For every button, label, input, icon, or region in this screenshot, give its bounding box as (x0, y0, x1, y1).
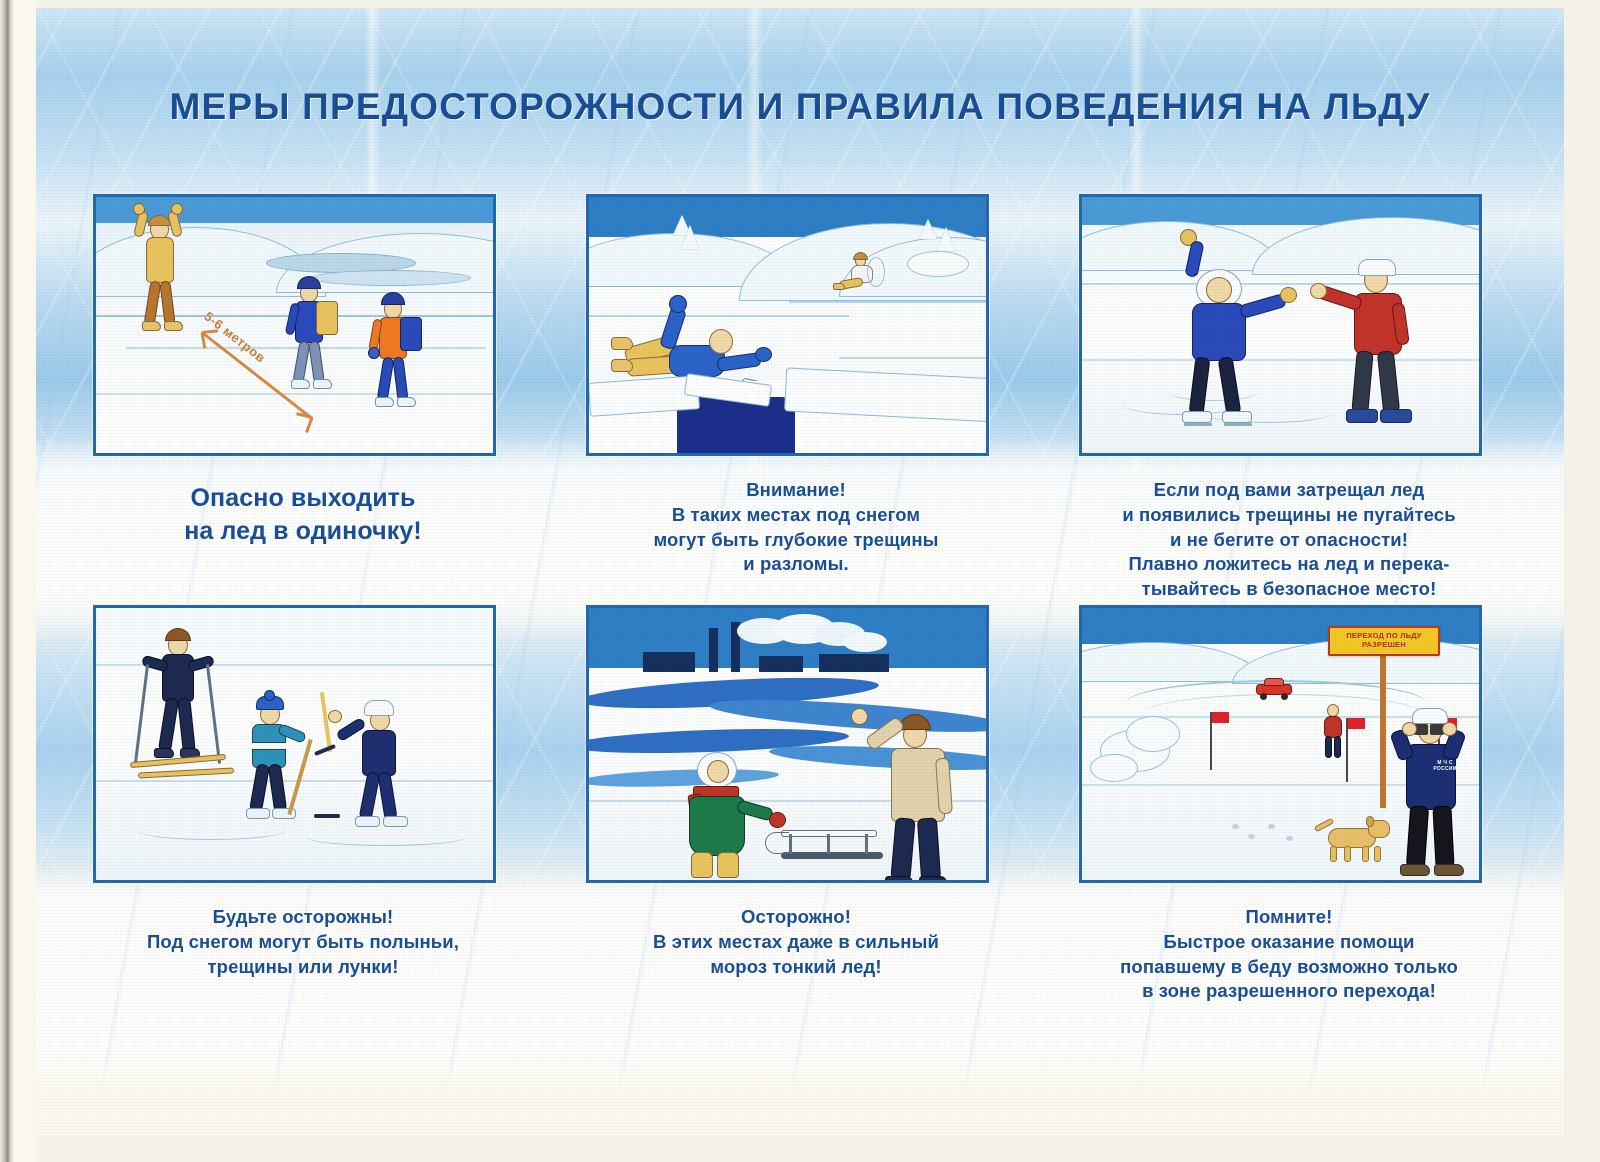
panel-5-illustration (586, 605, 989, 883)
mchs-badge-line-2: РОССИИ (1428, 766, 1462, 772)
marker-flag-left (1210, 712, 1230, 770)
panel-6-authorized-crossing: ПЕРЕХОД ПО ЛЬДУ РАЗРЕШЕН (1079, 605, 1499, 1004)
panel-4-caption: Будьте осторожны! Под снегом могут быть … (93, 905, 513, 979)
scanner-margin (14, 0, 36, 1162)
panel-5-thin-ice-near-plant: Осторожно! В этих местах даже в сильный … (586, 605, 1006, 979)
panel-4-illustration (93, 605, 496, 883)
panel-2-illustration (586, 194, 989, 456)
panel-1-illustration: 5-6 метров (93, 194, 496, 456)
panel-5-caption: Осторожно! В этих местах даже в сильный … (586, 905, 1006, 979)
scanner-edge-shadow (0, 0, 14, 1162)
scanned-page: МЕРЫ ПРЕДОСТОРОЖНОСТИ И ПРАВИЛА ПОВЕДЕНИ… (0, 0, 1600, 1162)
panel-1-caption: Опасно выходить на лед в одиночку! (93, 482, 513, 547)
panel-3-cracking-ice: Если под вами затрещал лед и появились т… (1079, 194, 1499, 602)
panel-6-illustration: ПЕРЕХОД ПО ЛЬДУ РАЗРЕШЕН (1079, 605, 1482, 883)
crossing-signpost (1380, 632, 1386, 808)
crossing-sign-line-1: ПЕРЕХОД ПО ЛЬДУ (1330, 631, 1438, 640)
page-title: МЕРЫ ПРЕДОСТОРОЖНОСТИ И ПРАВИЛА ПОВЕДЕНИ… (36, 86, 1564, 128)
crossing-sign: ПЕРЕХОД ПО ЛЬДУ РАЗРЕШЕН (1328, 626, 1440, 656)
panel-4-hidden-holes: Будьте осторожны! Под снегом могут быть … (93, 605, 513, 979)
panel-6-caption: Помните! Быстрое оказание помощи попавше… (1079, 905, 1499, 1004)
panel-3-illustration (1079, 194, 1482, 456)
panel-2-snow-covered-cracks: Внимание! В таких местах под снегом могу… (586, 194, 1006, 577)
panel-3-caption: Если под вами затрещал лед и появились т… (1079, 478, 1499, 602)
crossing-sign-line-2: РАЗРЕШЕН (1330, 640, 1438, 649)
marker-flag-mid (1346, 718, 1366, 782)
panel-1-alone-on-ice: 5-6 метров (93, 194, 513, 547)
mchs-badge: М Ч С РОССИИ (1428, 760, 1462, 773)
poster-bottom-fade (36, 1056, 1564, 1136)
ice-safety-poster: МЕРЫ ПРЕДОСТОРОЖНОСТИ И ПРАВИЛА ПОВЕДЕНИ… (36, 8, 1564, 1136)
panel-2-caption: Внимание! В таких местах под снегом могу… (586, 478, 1006, 577)
